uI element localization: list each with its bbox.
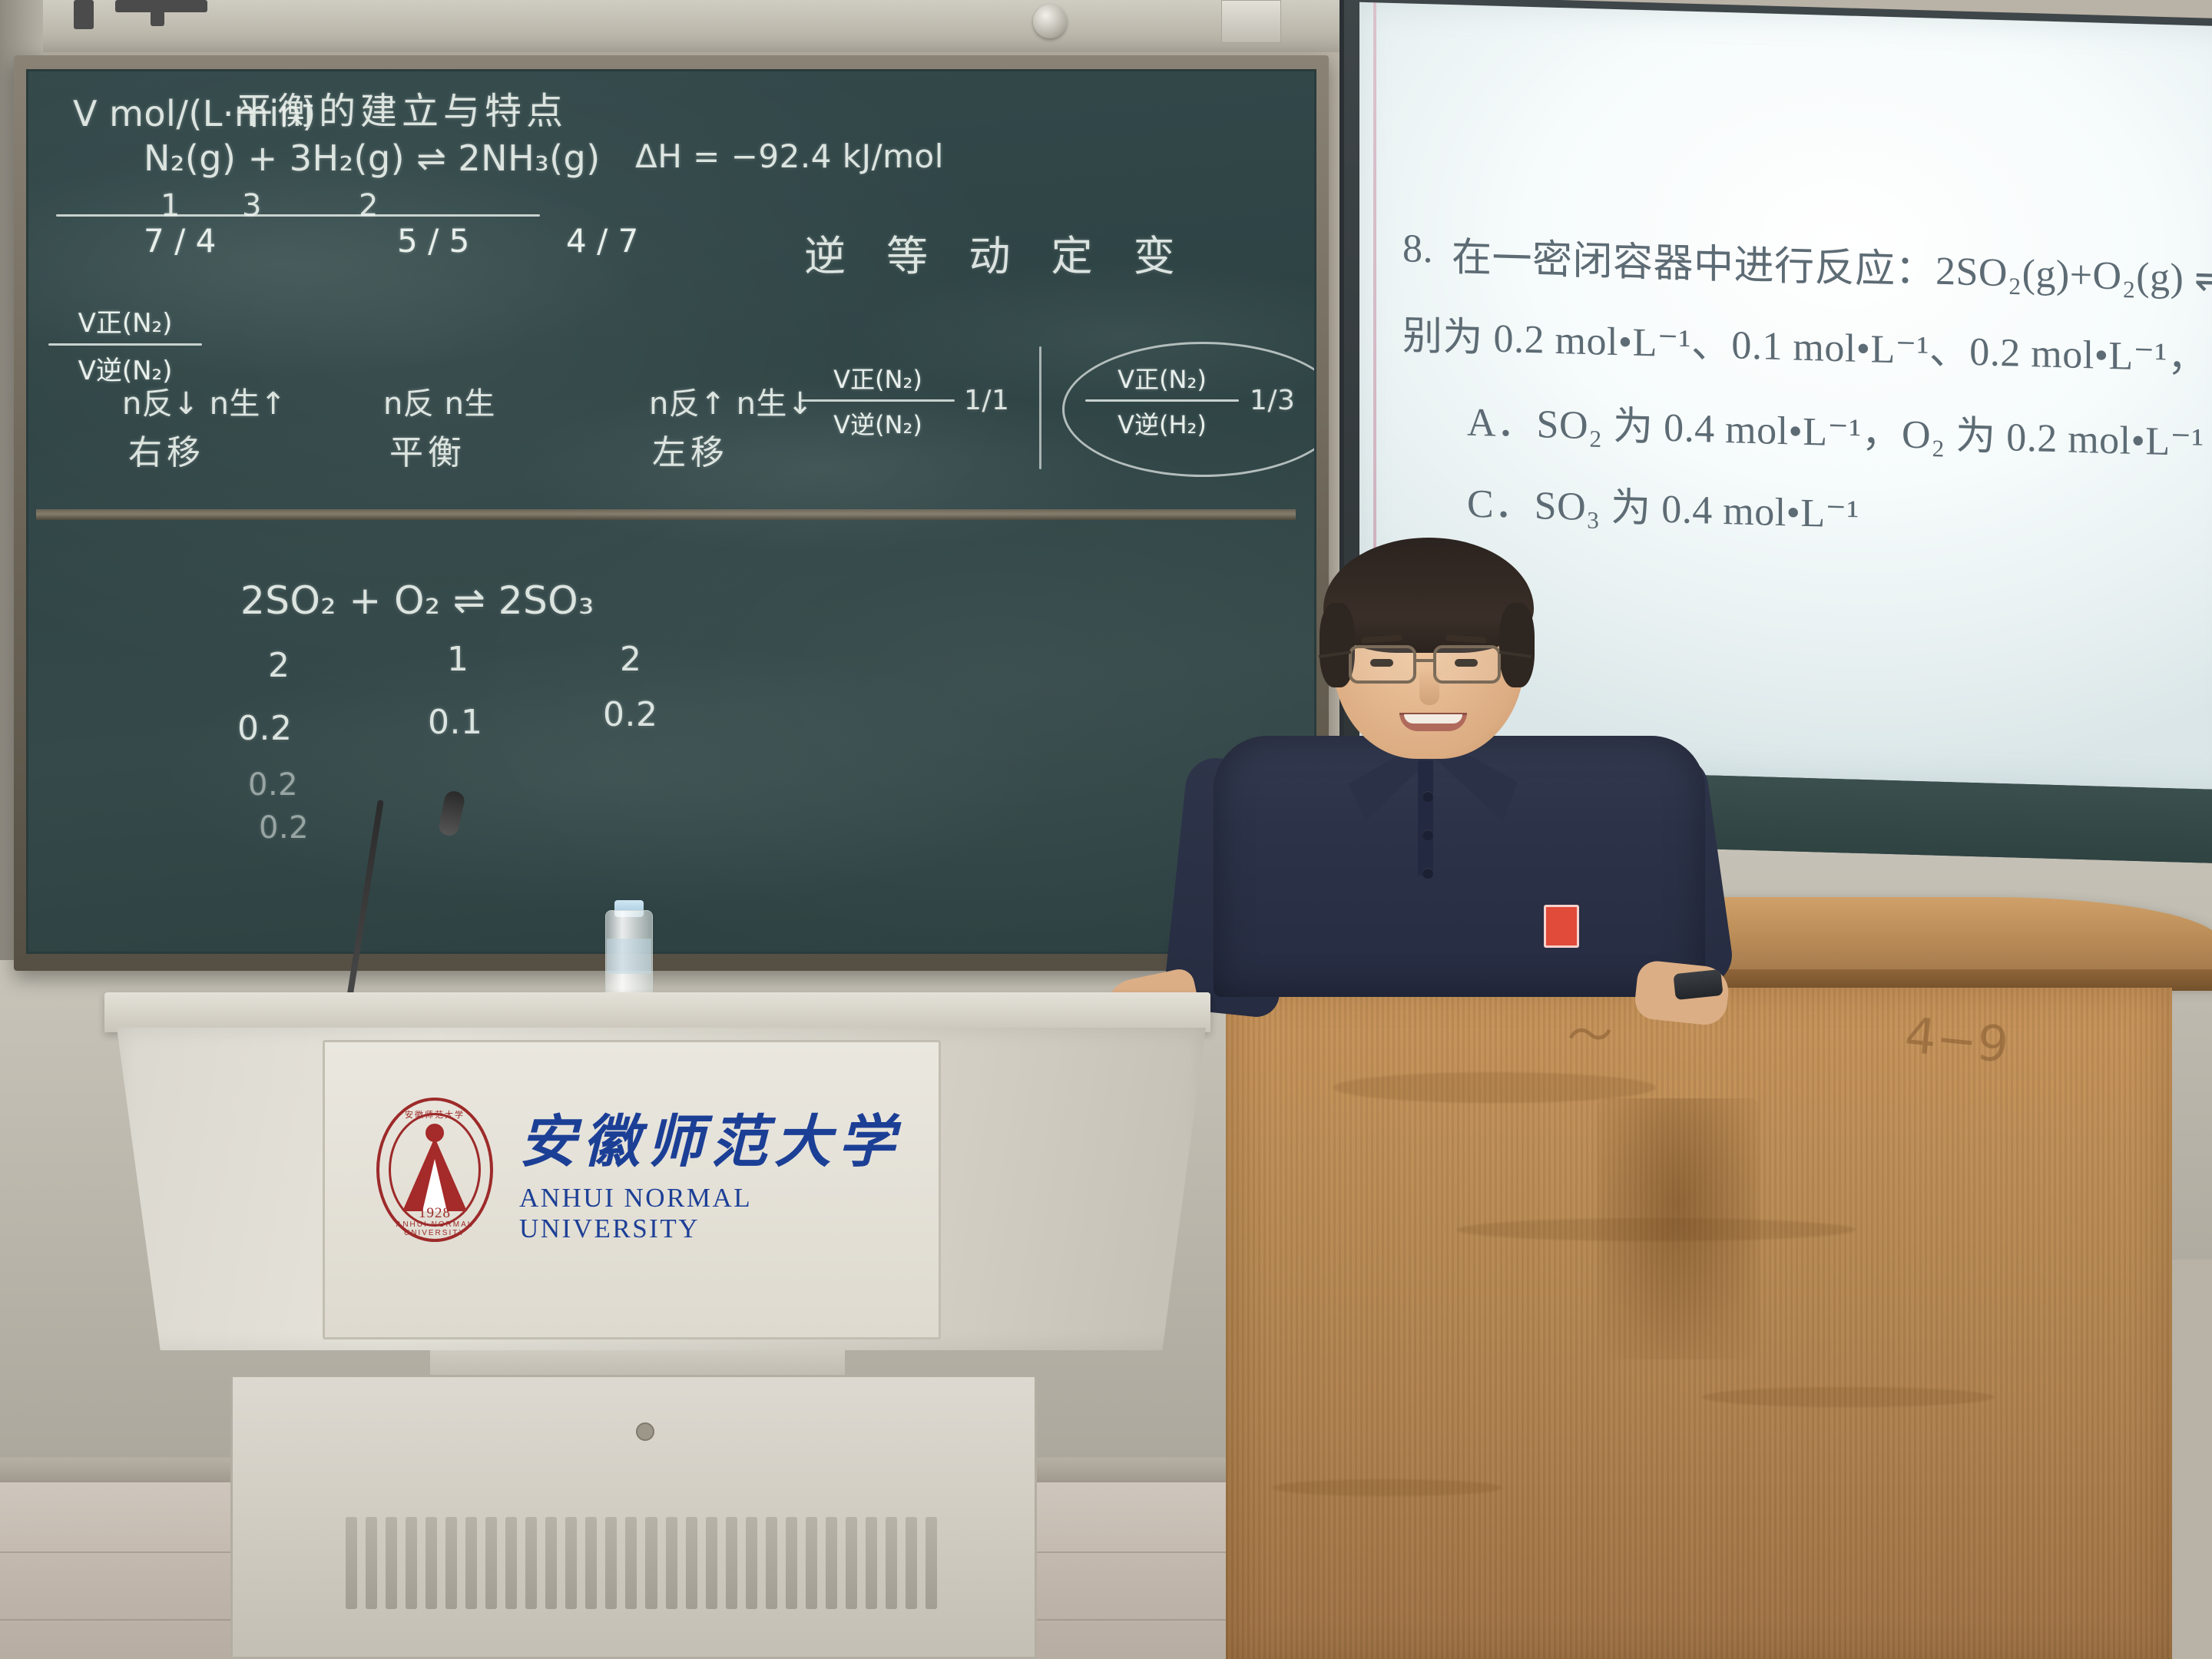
rate-ratio-2-numerator: V正(N₂): [1085, 360, 1239, 396]
chalk-underline: [56, 214, 540, 217]
blackboard-middle-rail: [36, 509, 1296, 520]
shirt-logo-badge: [1544, 905, 1579, 948]
mouth: [1399, 713, 1467, 731]
university-seal-icon: 安徽师范大学 1928 ANHUI NORMAL UNIVERSITY: [376, 1098, 493, 1242]
collar-right: [1426, 731, 1518, 822]
glasses-lens-left: [1349, 645, 1416, 684]
shirt-button: [1422, 791, 1433, 802]
chalk-enthalpy: ΔH = −92.4 kJ/mol: [635, 137, 944, 175]
blackboard: V mol/(L·min) 平衡的建立与特点 N₂(g) + 3H₂(g) ⇌ …: [14, 55, 1329, 971]
glasses-temple-right: [1499, 651, 1532, 658]
university-name-cn: 安徽师范大学: [519, 1096, 914, 1178]
university-logo: 安徽师范大学 1928 ANHUI NORMAL UNIVERSITY 安徽师范…: [376, 1097, 914, 1243]
floor: [0, 1482, 1321, 1659]
chalk-faint-1: 0.2: [248, 767, 298, 803]
seal-arc-top: 安徽师范大学: [376, 1108, 493, 1121]
rate-ratio-1-denominator: V逆(N₂): [801, 406, 955, 441]
chalk-coeff-1: 2: [268, 646, 290, 685]
glasses-temple-left: [1319, 651, 1351, 658]
nose: [1419, 668, 1439, 705]
chalk-rate-ratio-1: V正(N₂) V逆(N₂): [801, 360, 955, 441]
chalk-equilibrium-features: 逆 等 动 定 变: [804, 222, 1189, 283]
ceiling-sensor-icon: [1033, 5, 1067, 38]
podium-cabinet-neck: [430, 1350, 845, 1382]
neck: [1390, 672, 1475, 764]
shirt-button: [1422, 868, 1433, 879]
chalk-ratio-col3: 4 / 7: [566, 222, 638, 260]
chalk-conc-1: 0.2: [237, 709, 292, 748]
ear-right: [1505, 637, 1530, 680]
ear-left: [1325, 637, 1349, 680]
wood-surface-marking: 〜: [1565, 997, 1615, 1067]
right-arm: [1582, 753, 1736, 998]
slide-question-number: 8.: [1402, 226, 1433, 272]
cabinet-lock-icon[interactable]: [636, 1422, 654, 1441]
upper-wall: [0, 0, 1375, 52]
chalk-shift-col3: 左移: [652, 425, 729, 474]
hair-side-left: [1320, 603, 1355, 687]
collar-left: [1349, 731, 1441, 822]
chalk-rate-ratio-2-value: 1/3: [1250, 385, 1295, 416]
chalk-stoich-3: 2: [359, 188, 379, 224]
seal-arc-bottom: ANHUI NORMAL UNIVERSITY: [376, 1220, 493, 1237]
chalk-ratio-col1: 7 / 4: [144, 222, 216, 260]
slide-question-line2: 别为 0.2 mol•L⁻¹、0.1 mol•L⁻¹、0.2 mol•L⁻¹，当…: [1402, 303, 2212, 389]
chalk-ratio-col2: 5 / 5: [397, 222, 469, 260]
chalk-conc-3: 0.2: [603, 695, 657, 734]
seal-year: 1928: [376, 1205, 493, 1222]
hair: [1323, 538, 1534, 653]
blackboard-surface: V mol/(L·min) 平衡的建立与特点 N₂(g) + 3H₂(g) ⇌ …: [26, 69, 1316, 954]
floor-line: [0, 1551, 1321, 1553]
wood-lectern-body: [1226, 988, 2172, 1659]
wood-surface-marking: 4−9: [1902, 1007, 2012, 1075]
eye-left: [1370, 659, 1393, 667]
chalk-rate-ratio-2: V正(N₂) V逆(H₂): [1085, 360, 1239, 441]
lecturer: [1198, 530, 1736, 991]
ceiling-strip: [0, 0, 1375, 20]
chalk-stoich-1: 1: [161, 188, 180, 224]
rate-ratio-2-denominator: V逆(H₂): [1085, 406, 1239, 441]
hand-right: [1633, 959, 1730, 1027]
eyebrow-left: [1361, 634, 1402, 644]
ratio-col1-value: 7 / 4: [144, 222, 216, 260]
eye-right: [1455, 659, 1478, 667]
eyebrow-right: [1445, 634, 1487, 644]
chalk-fraction-vforward-vreverse: V正(N₂) V逆(N₂): [48, 302, 202, 387]
chalk-equation-so3: 2SO₂ + O₂ ⇌ 2SO₃: [240, 578, 594, 623]
ratio-col3-value: 4 / 7: [566, 222, 638, 260]
glasses-bridge: [1416, 659, 1435, 662]
teeth: [1404, 714, 1462, 724]
chalk-coeff-2: 1: [447, 640, 469, 679]
chalk-amount-change-col3: n反↑ n生↓: [649, 379, 813, 423]
chalk-faint-2: 0.2: [259, 810, 309, 846]
chalk-amount-change-col2: n反 n生: [383, 379, 495, 423]
chalk-amount-change-col1: n反↓ n生↑: [122, 379, 286, 423]
wood-lectern-stain: [1598, 1098, 1759, 1359]
glasses-lens-right: [1433, 645, 1501, 684]
floor-line: [0, 1619, 1321, 1621]
fraction-numerator: V正(N₂): [48, 302, 202, 339]
ceiling-conduit: [151, 6, 164, 26]
slide-question-line1: 在一密闭容器中进行反应：2SO₂(g)+O₂(g) ⇌ 2SO₃(g)，: [1452, 224, 2212, 309]
torso-polo-shirt: [1214, 736, 1705, 997]
slide-option-a: A．SO₂ 为 0.4 mol•L⁻¹，O₂ 为 0.2 mol•L⁻¹: [1467, 389, 2204, 468]
chalk-topic-title: 平衡的建立与特点: [236, 81, 568, 134]
chalk-conc-2: 0.1: [428, 703, 482, 742]
ceiling-conduit: [115, 0, 207, 12]
chalk-coeff-3: 2: [620, 640, 642, 679]
chalk-stoich-2: 3: [242, 188, 262, 224]
hand-left: [1101, 966, 1204, 1044]
classroom-scene: V mol/(L·min) 平衡的建立与特点 N₂(g) + 3H₂(g) ⇌ …: [0, 0, 2212, 1659]
slide-option-c: C．SO₃ 为 0.4 mol•L⁻¹: [1467, 471, 1859, 539]
baseboard: [0, 1458, 1321, 1485]
shirt-button: [1422, 829, 1433, 840]
podium-cabinet: [230, 1375, 1037, 1659]
rate-ratio-1-numerator: V正(N₂): [801, 360, 955, 396]
chalk-shift-col1: 右移: [128, 425, 205, 474]
chalk-rate-ratio-1-value: 1/1: [964, 385, 1009, 416]
shirt-placket: [1418, 760, 1433, 876]
university-name-en: ANHUI NORMAL UNIVERSITY: [519, 1183, 914, 1244]
presentation-clicker[interactable]: [1673, 969, 1723, 1000]
head: [1333, 551, 1525, 759]
cabinet-vent: [346, 1517, 937, 1609]
white-podium-top: [104, 992, 1210, 1032]
chalk-equation-nh3: N₂(g) + 3H₂(g) ⇌ 2NH₃(g): [144, 137, 601, 179]
ratio-col2-value: 5 / 5: [397, 222, 469, 260]
chalk-shift-col2: 平衡: [389, 425, 466, 474]
chalk-separator: [1039, 346, 1041, 469]
ceiling-mount-box: [1221, 0, 1281, 43]
hair-side-right: [1499, 603, 1535, 687]
ceiling-conduit: [74, 0, 94, 29]
